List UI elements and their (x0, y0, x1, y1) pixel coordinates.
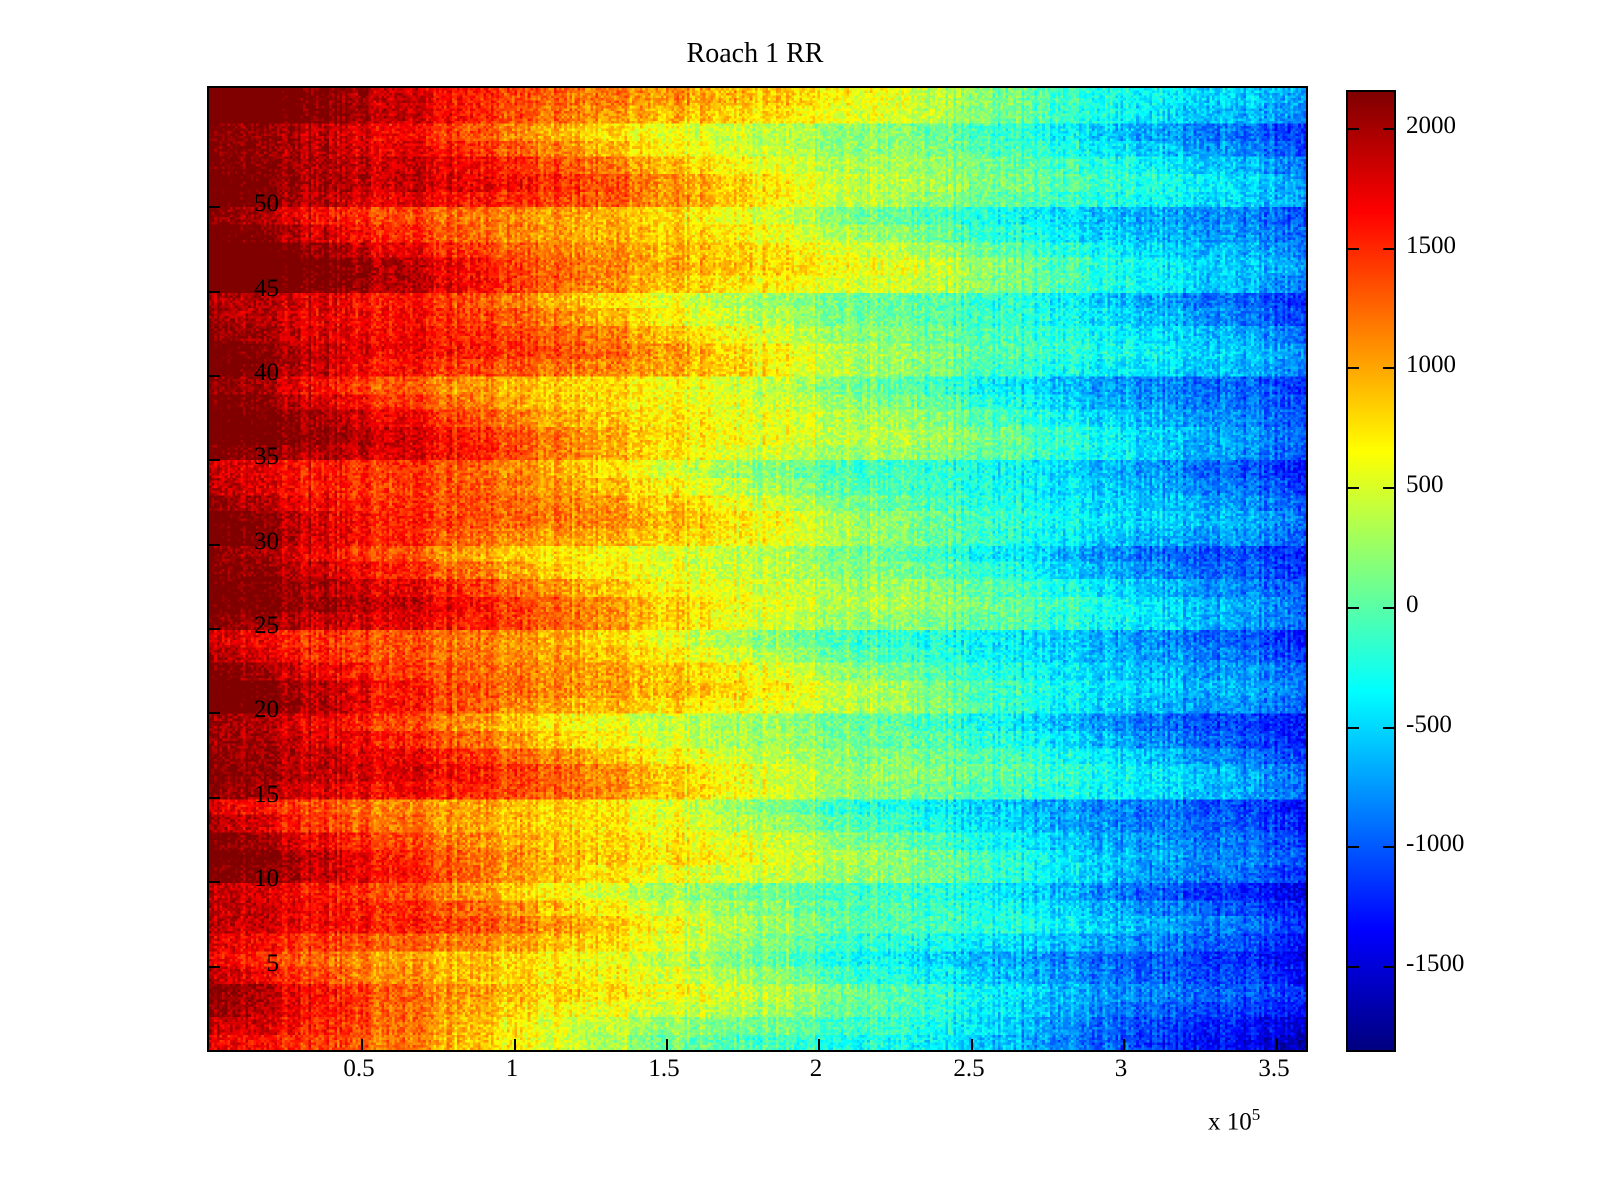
colorbar-tick-mark (1348, 367, 1359, 369)
y-tick-mark (209, 881, 220, 883)
colorbar-tick-mark (1348, 487, 1359, 489)
colorbar-tick-mark (1383, 128, 1394, 130)
colorbar-gradient (1348, 92, 1394, 1050)
y-tick-mark (209, 375, 220, 377)
x-tick-label: 2.5 (929, 1056, 1009, 1081)
colorbar-tick-label: 500 (1406, 472, 1444, 497)
y-tick-mark (209, 628, 220, 630)
colorbar-tick-label: 2000 (1406, 113, 1456, 138)
colorbar-tick-label: -1500 (1406, 951, 1464, 976)
colorbar-tick-mark (1383, 367, 1394, 369)
colorbar-tick-mark (1348, 727, 1359, 729)
y-tick-mark (209, 291, 220, 293)
y-tick-mark (209, 459, 220, 461)
colorbar-tick-label: -500 (1406, 712, 1452, 737)
x-tick-label: 1.5 (624, 1056, 704, 1081)
x-tick-mark (1123, 1039, 1125, 1050)
colorbar-tick-label: -1000 (1406, 831, 1464, 856)
y-tick-label: 35 (254, 444, 279, 469)
y-tick-mark (209, 966, 220, 968)
figure-canvas: Roach 1 RR 5101520253035404550 0.511.522… (0, 0, 1600, 1200)
heatmap-image (209, 88, 1306, 1050)
colorbar-tick-mark (1348, 607, 1359, 609)
x-tick-label: 2 (776, 1056, 856, 1081)
y-tick-label: 40 (254, 360, 279, 385)
x-tick-mark (1276, 1039, 1278, 1050)
y-tick-label: 30 (254, 529, 279, 554)
colorbar-tick-mark (1383, 727, 1394, 729)
y-tick-label: 20 (254, 697, 279, 722)
colorbar-tick-mark (1383, 846, 1394, 848)
colorbar-tick-mark (1383, 487, 1394, 489)
y-tick-label: 10 (254, 866, 279, 891)
colorbar-tick-mark (1348, 248, 1359, 250)
colorbar-tick-mark (1348, 846, 1359, 848)
colorbar-tick-mark (1383, 966, 1394, 968)
heatmap-axes[interactable] (207, 86, 1308, 1052)
y-tick-label: 5 (267, 951, 280, 976)
colorbar-tick-mark (1383, 607, 1394, 609)
x-tick-label: 3 (1081, 1056, 1161, 1081)
y-tick-mark (209, 206, 220, 208)
x-tick-mark (666, 1039, 668, 1050)
x-tick-mark (361, 1039, 363, 1050)
y-tick-label: 25 (254, 613, 279, 638)
colorbar-tick-label: 0 (1406, 592, 1419, 617)
colorbar-tick-label: 1500 (1406, 233, 1456, 258)
colorbar-tick-mark (1383, 248, 1394, 250)
x-tick-label: 3.5 (1234, 1056, 1314, 1081)
y-tick-label: 15 (254, 782, 279, 807)
y-tick-label: 50 (254, 191, 279, 216)
y-tick-mark (209, 544, 220, 546)
colorbar-tick-label: 1000 (1406, 352, 1456, 377)
y-tick-label: 45 (254, 276, 279, 301)
x-tick-label: 0.5 (319, 1056, 399, 1081)
x-tick-mark (818, 1039, 820, 1050)
x-tick-mark (514, 1039, 516, 1050)
x-tick-mark (971, 1039, 973, 1050)
colorbar-tick-mark (1348, 966, 1359, 968)
colorbar[interactable] (1346, 90, 1396, 1052)
page-title: Roach 1 RR (0, 38, 1510, 70)
y-tick-mark (209, 797, 220, 799)
x-axis-exponent-label: x 105 (1208, 1105, 1260, 1136)
x-exponent-base: x 10 (1208, 1108, 1252, 1135)
colorbar-tick-mark (1348, 128, 1359, 130)
x-exponent-power: 5 (1252, 1105, 1261, 1124)
y-tick-mark (209, 712, 220, 714)
x-tick-label: 1 (472, 1056, 552, 1081)
